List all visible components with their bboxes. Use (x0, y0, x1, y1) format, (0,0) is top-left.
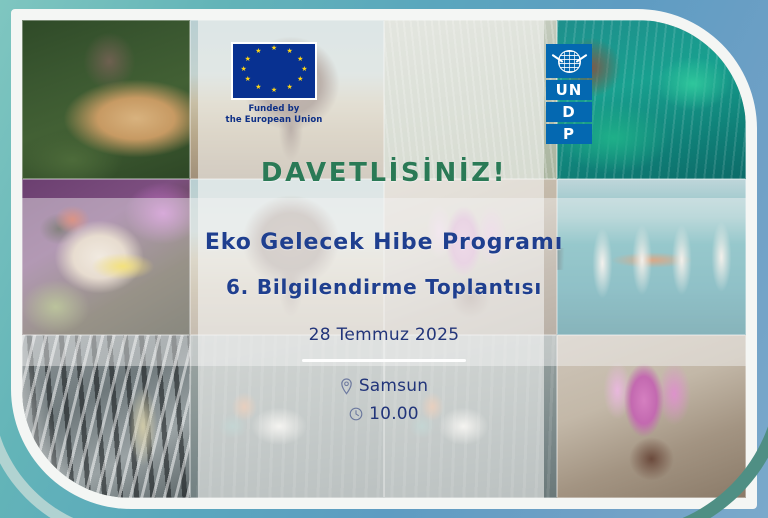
eu-caption-line2: the European Union (219, 115, 329, 126)
eu-logo-block: ★ ★ ★ ★ ★ ★ ★ ★ ★ ★ ★ ★ Funded by (219, 42, 329, 125)
map-pin-icon (340, 378, 353, 395)
event-time: 10.00 (369, 404, 419, 424)
divider (302, 359, 466, 362)
program-subtitle: 6. Bilgilendirme Toplantısı (22, 275, 746, 299)
undp-logo-block: UN D P (546, 44, 592, 144)
event-date: 28 Temmuz 2025 (22, 325, 746, 345)
undp-letter-d: D (546, 102, 592, 122)
headline-block: DAVETLİSİNİZ! Eko Gelecek Hibe Programı … (22, 158, 746, 424)
eu-caption-line1: Funded by (219, 104, 329, 115)
event-invitation-poster: ★ ★ ★ ★ ★ ★ ★ ★ ★ ★ ★ ★ Funded by (0, 0, 768, 518)
undp-letter-un: UN (546, 80, 592, 100)
event-time-row: 10.00 (22, 404, 746, 424)
logo-row: ★ ★ ★ ★ ★ ★ ★ ★ ★ ★ ★ ★ Funded by (22, 20, 746, 140)
undp-letters: UN D P (546, 80, 592, 144)
un-globe-icon (546, 44, 592, 78)
poster-card: ★ ★ ★ ★ ★ ★ ★ ★ ★ ★ ★ ★ Funded by (11, 9, 757, 509)
undp-letter-p: P (546, 124, 592, 144)
event-location: Samsun (359, 376, 428, 396)
program-title: Eko Gelecek Hibe Programı (22, 230, 746, 255)
event-location-row: Samsun (22, 376, 746, 396)
eu-funding-caption: Funded by the European Union (219, 104, 329, 125)
european-union-flag-icon: ★ ★ ★ ★ ★ ★ ★ ★ ★ ★ ★ ★ (231, 42, 317, 100)
poster-content: ★ ★ ★ ★ ★ ★ ★ ★ ★ ★ ★ ★ Funded by (22, 20, 746, 498)
invitation-headline: DAVETLİSİNİZ! (22, 158, 746, 188)
clock-icon (349, 407, 363, 421)
